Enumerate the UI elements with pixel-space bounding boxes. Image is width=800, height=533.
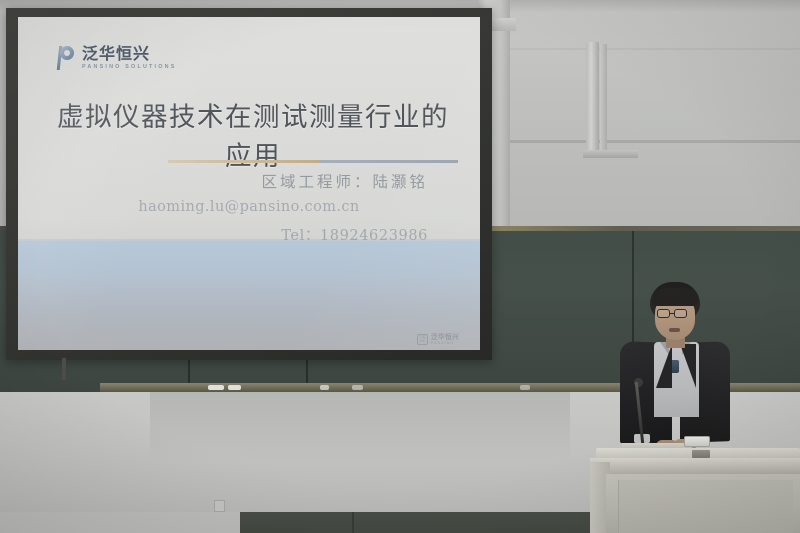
- pansino-logo-chinese: 泛华恒兴: [82, 46, 177, 62]
- eyeglasses-lens-left: [657, 309, 670, 318]
- presenter: [612, 282, 737, 462]
- slide-phone: Tel：18924623986: [18, 224, 446, 245]
- podium-lip: [590, 458, 800, 474]
- screen-hanging-hook: [62, 358, 66, 380]
- wall-pipe: [586, 42, 599, 158]
- eyeglasses-bridge: [670, 313, 674, 314]
- wall-pipe-foot: [583, 150, 638, 158]
- chalk-piece: [520, 385, 530, 390]
- slide-presenter-role: 区域工程师：陆灏铭: [18, 170, 446, 192]
- wall-panel-edge: [510, 48, 800, 50]
- baseboard-gap: [0, 512, 240, 533]
- slide-divider-rule: [168, 160, 458, 163]
- pansino-logo: 泛华恒兴 PANSINO SOLUTIONS: [56, 45, 177, 71]
- pansino-logo-text: 泛华恒兴 PANSINO SOLUTIONS: [82, 46, 177, 70]
- wall-molding: [510, 140, 800, 143]
- lecture-hall-photo: 泛华恒兴 PANSINO SOLUTIONS 虚拟仪器技术在测试测量行业的应用 …: [0, 0, 800, 533]
- hair-fringe: [652, 288, 698, 306]
- slide-watermark: 泛 泛华恒兴 PANSINO: [417, 334, 459, 345]
- pansino-logo-english: PANSINO SOLUTIONS: [82, 65, 177, 70]
- divider-blue-segment: [319, 160, 458, 163]
- projection-screen: 泛华恒兴 PANSINO SOLUTIONS 虚拟仪器技术在测试测量行业的应用 …: [6, 8, 492, 360]
- podium-clamp: [692, 450, 710, 458]
- chalk-piece: [352, 385, 363, 390]
- wall-outlet: [214, 500, 225, 512]
- watermark-text: 泛华恒兴 PANSINO: [431, 334, 459, 345]
- chalk-piece: [320, 385, 329, 390]
- watermark-english: PANSINO: [431, 342, 459, 346]
- pansino-p-mark-icon: [56, 45, 76, 71]
- eyeglasses-lens-right: [674, 309, 687, 318]
- projection-screen-surface: 泛华恒兴 PANSINO SOLUTIONS 虚拟仪器技术在测试测量行业的应用 …: [18, 17, 480, 350]
- wall-pipe-secondary: [600, 44, 607, 156]
- baseboard-seam: [352, 512, 354, 533]
- presentation-slide: 泛华恒兴 PANSINO SOLUTIONS 虚拟仪器技术在测试测量行业的应用 …: [18, 17, 480, 350]
- watermark-chinese: 泛华恒兴: [431, 334, 459, 341]
- suit-lapel-right: [680, 344, 696, 388]
- slide-email: haoming.lu@pansino.com.cn: [18, 199, 480, 215]
- watermark-badge-icon: 泛: [417, 334, 428, 345]
- suit-lapel-left: [656, 344, 672, 388]
- wall-shadow: [150, 392, 570, 462]
- mobile-device-on-podium: [684, 436, 710, 447]
- chalk-piece: [208, 385, 224, 390]
- slide-accent-band: [18, 241, 480, 350]
- podium-front-inset: [618, 480, 793, 533]
- divider-gold-segment: [168, 160, 319, 163]
- mouth: [669, 328, 680, 332]
- chalk-piece: [228, 385, 241, 390]
